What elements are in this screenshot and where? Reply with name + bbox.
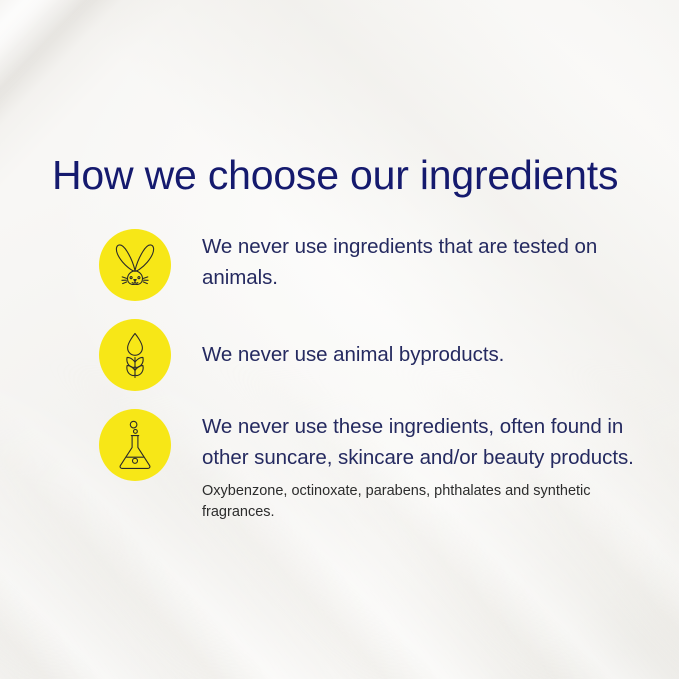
claim-icon-badge	[99, 409, 171, 481]
claim-text: We never use ingredients that are tested…	[202, 231, 639, 293]
content-area: How we choose our ingredients	[0, 0, 679, 679]
claim-text: We never use animal byproducts.	[202, 339, 639, 370]
ingredients-infographic: How we choose our ingredients	[0, 0, 679, 679]
claim-icon-badge	[99, 229, 171, 301]
claim-body: We never use ingredients that are tested…	[202, 229, 639, 293]
claim-item: We never use ingredients that are tested…	[99, 229, 639, 301]
claims-list: We never use ingredients that are tested…	[99, 229, 639, 523]
flask-chemical-icon	[114, 419, 156, 471]
plant-leaf-droplet-icon	[114, 330, 156, 380]
claim-icon-badge	[99, 319, 171, 391]
page-title: How we choose our ingredients	[52, 151, 618, 199]
claim-body: We never use animal byproducts.	[202, 319, 639, 370]
claim-note: Oxybenzone, octinoxate, parabens, phthal…	[202, 481, 639, 523]
claim-item: We never use these ingredients, often fo…	[99, 409, 639, 523]
claim-body: We never use these ingredients, often fo…	[202, 409, 639, 523]
bunny-cruelty-free-icon	[112, 240, 158, 290]
claim-text: We never use these ingredients, often fo…	[202, 411, 639, 473]
claim-item: We never use animal byproducts.	[99, 319, 639, 391]
